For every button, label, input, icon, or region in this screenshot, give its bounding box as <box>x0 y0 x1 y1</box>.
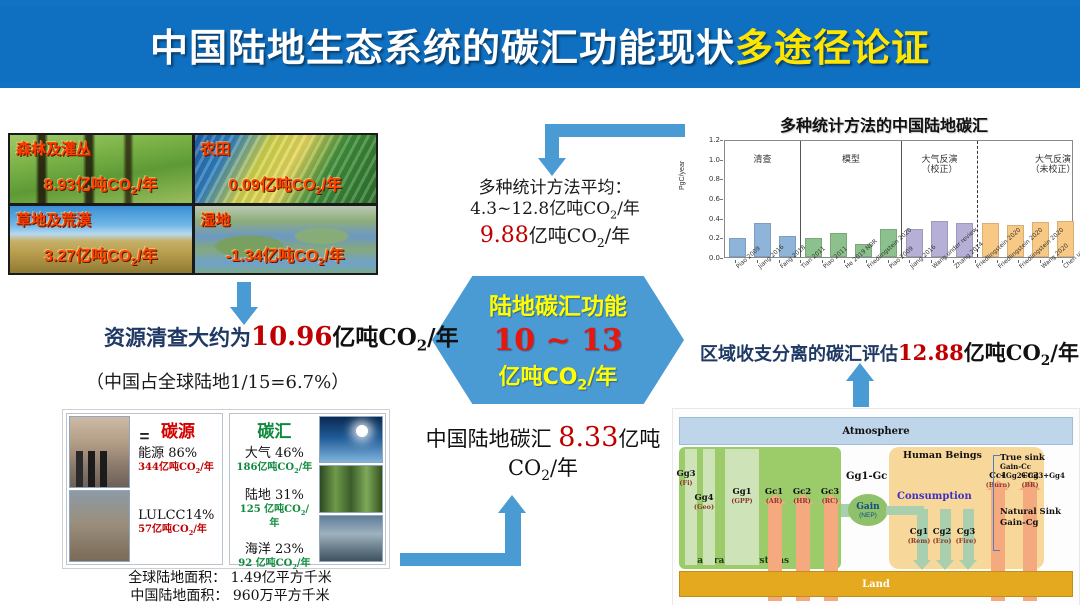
smokestack-photo <box>69 416 130 488</box>
chart-x-tick <box>757 260 758 263</box>
source-item-lulcc-amount: 57亿吨CO2/年 <box>138 524 218 537</box>
photo-value-grassland: 3.27亿吨CO2/年 <box>44 242 157 268</box>
chart-x-axis-labels: Piao 2009Jiang 2016Fang 2018Tian 2011Pia… <box>724 260 1073 330</box>
china-terrestrial-sink-text: 中国陆地碳汇 8.33亿吨 CO2/年 <box>418 420 668 486</box>
arrow-bottom-horizontal <box>400 553 520 566</box>
inventory-unit: 亿吨CO2/年 <box>332 324 458 351</box>
chart-title: 多种统计方法的中国陆地碳汇 <box>693 112 1075 136</box>
chart-x-tick <box>800 260 801 263</box>
human-beings-label: Human Beings <box>903 450 982 461</box>
photo-cell-cropland: 农田 0.09亿吨CO2/年 <box>195 135 377 203</box>
arrow-elbow-head <box>538 158 566 176</box>
gain-nep-node: Gain (NEP) <box>848 494 888 526</box>
bamboo-forest-photo <box>319 465 383 512</box>
ecosystem-photo-grid: 森林及灌丛 8.93亿吨CO2/年 农田 0.09亿吨CO2/年 草地及荒漠 3… <box>8 133 378 275</box>
assessment-prefix: 区域收支分离的碳汇评估 <box>700 344 898 365</box>
sink-item-atmosphere-amount: 186亿吨CO2/年 <box>236 462 313 475</box>
sink-item-atmosphere-name: 大气 46% <box>245 446 304 461</box>
arrow-elbow-vertical <box>545 124 559 162</box>
carbon-sink-half: 碳汇 大气 46% 186亿吨CO2/年 陆地 31% 125 亿吨CO2/年 … <box>229 413 386 565</box>
inventory-value: 10.96 <box>251 322 332 352</box>
photo-label-forest: 森林及灌丛 <box>16 138 91 159</box>
chart-bar-group: 模型 <box>801 141 902 257</box>
carbon-source-heading: 碳源 <box>138 417 218 442</box>
gain-label: Gain <box>856 502 879 512</box>
sink-text-column: 碳汇 大气 46% 186亿吨CO2/年 陆地 31% 125 亿吨CO2/年 … <box>230 414 317 564</box>
atmosphere-band: Atmosphere <box>679 417 1073 445</box>
chart-y-tick-mark <box>720 199 723 200</box>
flux-label-gg4: Gg4(Geo) <box>693 493 715 511</box>
flux-label-gc1: Gc1(AR) <box>759 487 789 505</box>
multi-method-range: 4.3~12.8亿吨CO2/年 <box>440 199 670 222</box>
photo-label-cropland: 农田 <box>201 138 231 159</box>
sink-definitions: True sink Gain-Cc +Gg2+Gg3+Gg4 Natural S… <box>1000 453 1080 529</box>
chart-x-tick <box>1018 260 1019 263</box>
chart-x-tick <box>909 260 910 263</box>
land-band: Land <box>679 571 1073 597</box>
sink-item-land-amount: 125 亿吨CO2/年 <box>236 504 313 529</box>
logging-photo <box>69 490 130 562</box>
multi-method-average-block: 多种统计方法平均： 4.3~12.8亿吨CO2/年 9.88亿吨CO2/年 <box>440 178 670 252</box>
sink-item-land-name: 陆地 31% <box>245 488 304 503</box>
sink-photo-stack <box>317 414 385 564</box>
chart-y-tick-mark <box>720 258 723 259</box>
arrow-bottom-to-china-head <box>498 495 526 513</box>
source-item-energy-name: 能源 86% <box>138 446 197 461</box>
chart-x-tick <box>822 260 823 263</box>
flux-label-gc3: Gc3(RC) <box>815 487 845 505</box>
chart-y-tick: 0.8 <box>709 175 720 183</box>
flux-label-gc2: Gc2(HR) <box>787 487 817 505</box>
photo-cell-grassland: 草地及荒漠 3.27亿吨CO2/年 <box>10 206 192 274</box>
assessment-unit: 亿吨CO2/年 <box>964 340 1079 365</box>
land-label: Land <box>862 579 890 590</box>
carbon-flow-diagram: Atmosphere Natural Ecosystems Gg3(Fi) Gg… <box>672 408 1080 605</box>
flux-arrow-gg1 <box>725 449 759 565</box>
multi-method-average-unit: 亿吨CO2/年 <box>529 225 630 247</box>
carbon-source-half: 碳源 能源 86% 344亿吨CO2/年 LULCC14% 57亿吨CO2/年 … <box>66 413 223 565</box>
chart-x-tick <box>1062 260 1063 263</box>
chart-y-tick: 1.2 <box>709 136 720 144</box>
chart-y-axis-label: PgC/year <box>679 161 686 190</box>
chart-x-tick <box>844 260 845 263</box>
flux-label-gg1: Gg1(GPP) <box>727 487 757 505</box>
chart-y-tick: 0.6 <box>709 195 720 203</box>
flux-label-cg3: Cg3(Fire) <box>951 527 981 545</box>
hexagon-title: 陆地碳汇功能 <box>489 287 627 321</box>
multi-method-label: 多种统计方法平均： <box>440 178 670 199</box>
multi-method-average: 9.88亿吨CO2/年 <box>440 222 670 251</box>
chart-plot-area: PgC/year 0.00.20.40.60.81.01.2 清查模型大气反演（… <box>693 140 1075 268</box>
chart-x-tick <box>997 260 998 263</box>
photo-label-grassland: 草地及荒漠 <box>16 209 91 230</box>
chart-bar-group: 清查 <box>725 141 801 257</box>
photo-value-wetland: -1.34亿吨CO2/年 <box>226 242 345 268</box>
consumption-label: Consumption <box>897 491 972 502</box>
source-item-energy: 能源 86% 344亿吨CO2/年 <box>138 447 218 475</box>
flux-label-gg3: Gg3(Fi) <box>675 469 697 487</box>
photo-label-wetland: 湿地 <box>201 209 231 230</box>
arrow-quad-to-inventory-stem <box>237 282 251 310</box>
hexagon-range: 10 ~ 13 <box>493 323 623 358</box>
global-land-area: 全球陆地面积： 1.49亿平方千米 <box>70 570 390 588</box>
natural-sink-title: Natural Sink <box>1000 507 1080 518</box>
equals-sign: = <box>140 427 150 447</box>
sink-item-ocean-name: 海洋 23% <box>245 542 304 557</box>
source-item-lulcc: LULCC14% 57亿吨CO2/年 <box>138 509 218 537</box>
title-banner: 中国陆地生态系统的碳汇功能现状多途径论证 <box>0 0 1080 88</box>
photo-cell-wetland: 湿地 -1.34亿吨CO2/年 <box>195 206 377 274</box>
chart-y-tick: 0.2 <box>709 234 720 242</box>
chart-x-tick <box>953 260 954 263</box>
source-photo-stack <box>67 414 132 564</box>
china-sink-value: 8.33 <box>558 422 618 453</box>
ocean-ice-photo <box>319 515 383 562</box>
chart-x-tick <box>931 260 932 263</box>
sink-item-land: 陆地 31% 125 亿吨CO2/年 <box>236 489 313 529</box>
chart-y-tick-mark <box>720 160 723 161</box>
chart-y-tick-mark <box>720 140 723 141</box>
chart-y-tick-mark <box>720 238 723 239</box>
chart-x-tick <box>975 260 976 263</box>
chart-y-tick-mark <box>720 219 723 220</box>
title-white-part: 中国陆地生态系统的碳汇功能现状 <box>150 26 735 70</box>
chart-y-tick: 1.0 <box>709 156 720 164</box>
source-item-lulcc-name: LULCC14% <box>138 508 214 523</box>
true-sink-formula: Gain-Cc +Gg2+Gg3+Gg4 <box>1000 463 1080 481</box>
source-item-energy-amount: 344亿吨CO2/年 <box>138 462 218 475</box>
multi-method-average-value: 9.88 <box>480 223 529 248</box>
chart-group-label: 大气反演（校正） <box>902 155 977 176</box>
carbon-source-sink-panel: 碳源 能源 86% 344亿吨CO2/年 LULCC14% 57亿吨CO2/年 … <box>62 409 390 569</box>
carbon-sink-heading: 碳汇 <box>236 417 313 442</box>
chart-x-tick <box>779 260 780 263</box>
chart-y-tick: 0.0 <box>709 254 720 262</box>
statistics-chart: 多种统计方法的中国陆地碳汇 PgC/year 0.00.20.40.60.81.… <box>693 112 1075 310</box>
slide-root: 中国陆地生态系统的碳汇功能现状多途径论证 森林及灌丛 8.93亿吨CO2/年 农… <box>0 0 1080 605</box>
sink-item-atmosphere: 大气 46% 186亿吨CO2/年 <box>236 447 313 475</box>
arrow-flow-to-assessment-head <box>846 363 874 381</box>
photo-value-cropland: 0.09亿吨CO2/年 <box>229 171 342 197</box>
photo-value-forest: 8.93亿吨CO2/年 <box>44 171 157 197</box>
china-land-area: 中国陆地面积： 960万平方千米 <box>70 588 390 605</box>
chart-x-tick <box>735 260 736 263</box>
hexagon-unit: 亿吨CO2/年 <box>499 359 618 393</box>
china-sink-prefix: 中国陆地碳汇 <box>426 427 552 451</box>
arrow-flow-to-assessment-stem <box>853 381 869 407</box>
gg1-gc-label: Gg1-Gc <box>846 471 887 482</box>
chart-x-tick <box>866 260 867 263</box>
chart-y-tick: 0.4 <box>709 215 720 223</box>
inventory-estimate: 资源清查大约为10.96亿吨CO2/年 <box>104 318 459 355</box>
sink-item-ocean: 海洋 23% 92 亿吨CO2/年 <box>236 543 313 571</box>
title-yellow-part: 多途径论证 <box>735 26 930 70</box>
land-area-notes: 全球陆地面积： 1.49亿平方千米 中国陆地面积： 960万平方千米 <box>70 570 390 605</box>
chart-group-label: 大气反演（未校正） <box>978 155 1080 176</box>
photo-cell-forest: 森林及灌丛 8.93亿吨CO2/年 <box>10 135 192 203</box>
terrestrial-sink-hexagon: 陆地碳汇功能 10 ~ 13 亿吨CO2/年 <box>432 276 684 404</box>
atmosphere-label: Atmosphere <box>842 426 909 437</box>
chart-x-tick <box>888 260 889 263</box>
china-land-share-note: （中国占全球陆地1/15=6.7%） <box>86 368 349 394</box>
chart-group-label: 模型 <box>801 155 901 165</box>
chart-y-tick-mark <box>720 179 723 180</box>
chart-y-axis: PgC/year 0.00.20.40.60.81.01.2 <box>693 140 723 258</box>
regional-assessment-text: 区域收支分离的碳汇评估12.88亿吨CO2/年 <box>700 337 1079 369</box>
china-sink-unit: 亿吨 <box>618 427 660 451</box>
natural-sink-formula: Gain-Cg <box>1000 518 1080 529</box>
page-title: 中国陆地生态系统的碳汇功能现状多途径论证 <box>150 17 930 72</box>
sky-photo <box>319 416 383 463</box>
gain-sub-label: (NEP) <box>859 512 877 519</box>
chart-group-label: 清查 <box>725 155 800 165</box>
chart-bar <box>729 238 746 257</box>
china-sink-unit2: CO2/年 <box>418 455 668 486</box>
inventory-prefix: 资源清查大约为 <box>104 326 251 350</box>
sink-bracket <box>993 455 1000 551</box>
arrow-elbow-horizontal <box>545 124 685 137</box>
chart-x-tick <box>1040 260 1041 263</box>
assessment-value: 12.88 <box>898 340 964 365</box>
